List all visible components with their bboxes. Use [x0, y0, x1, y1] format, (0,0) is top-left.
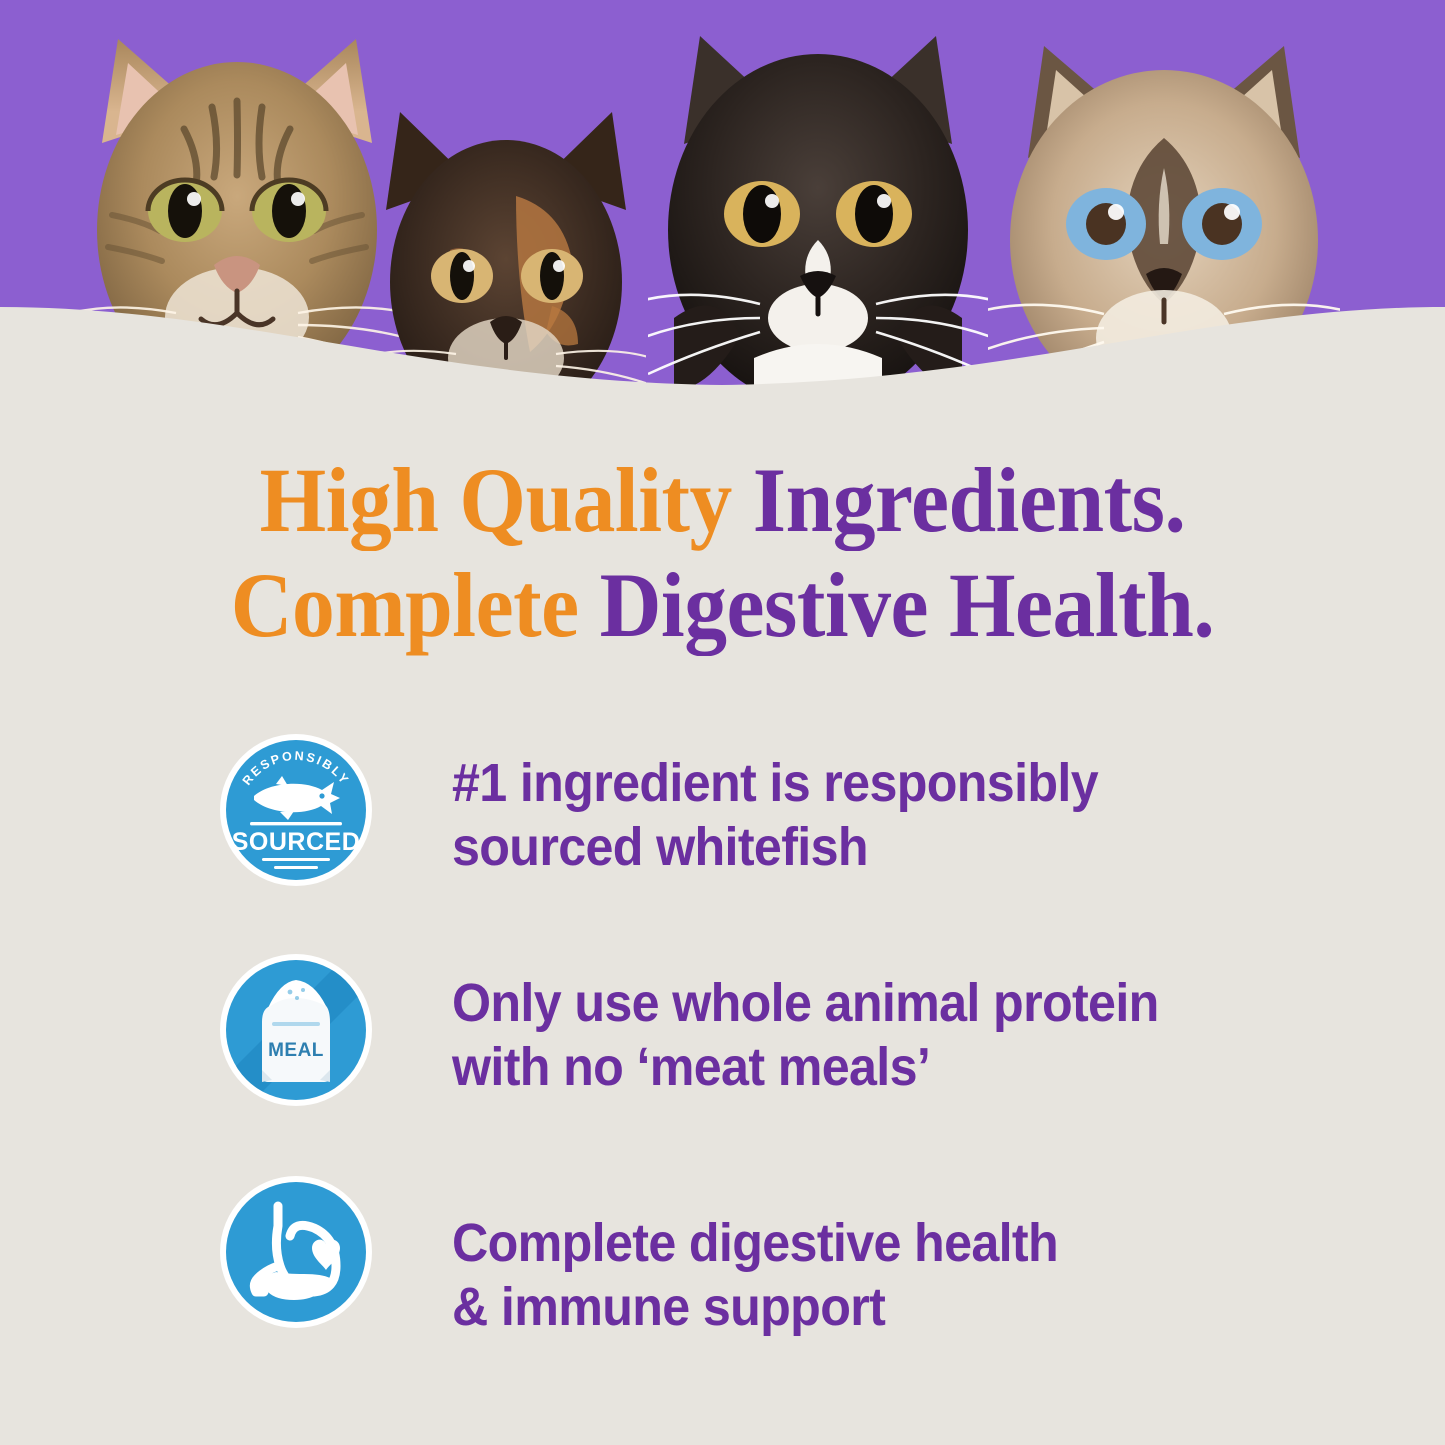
feature-text: Only use whole animal protein with no ‘m… [452, 972, 1252, 1099]
headline-line1-purple: Ingredients. [753, 449, 1186, 551]
cat-photo-seal-point-ragdoll [988, 18, 1340, 400]
cat-photo-black-tuxedo [648, 18, 988, 400]
feature-text-line2: & immune support [452, 1276, 1252, 1340]
feature-text: #1 ingredient is responsibly sourced whi… [452, 752, 1252, 879]
cat-photo-brown-tabby [72, 25, 402, 400]
feature-text-line2: with no ‘meat meals’ [452, 1036, 1252, 1100]
hero-banner [0, 0, 1445, 400]
no-meat-meal-bag-icon: MEAL [218, 952, 374, 1108]
headline-line1-orange: High Quality [260, 449, 732, 551]
feature-text: Complete digestive health & immune suppo… [452, 1212, 1252, 1339]
list-item: MEAL Only use whole animal protein with … [0, 940, 1445, 1164]
page-title: High Quality Ingredients. Complete Diges… [0, 448, 1445, 658]
stomach-heart-digestive-icon [218, 1174, 374, 1330]
headline-line2-orange: Complete [231, 554, 579, 656]
cat-photo-tortoiseshell-kitten [366, 100, 646, 400]
list-item: Complete digestive health & immune suppo… [0, 1164, 1445, 1388]
responsibly-sourced-fish-badge-icon: RESPONSIBLY SOURCED [218, 732, 374, 888]
feature-text-line1: #1 ingredient is responsibly [452, 752, 1252, 816]
product-feature-graphic: High Quality Ingredients. Complete Diges… [0, 0, 1445, 1445]
badge-main-label: MEAL [268, 1040, 324, 1061]
badge-main-label: SOURCED [232, 828, 361, 856]
feature-text-line1: Complete digestive health [452, 1212, 1252, 1276]
feature-text-line2: sourced whitefish [452, 816, 1252, 880]
feature-text-line1: Only use whole animal protein [452, 972, 1252, 1036]
list-item: RESPONSIBLY SOURCED [0, 716, 1445, 940]
feature-list: RESPONSIBLY SOURCED [0, 716, 1445, 1388]
headline-line2-purple: Digestive Health. [600, 554, 1215, 656]
